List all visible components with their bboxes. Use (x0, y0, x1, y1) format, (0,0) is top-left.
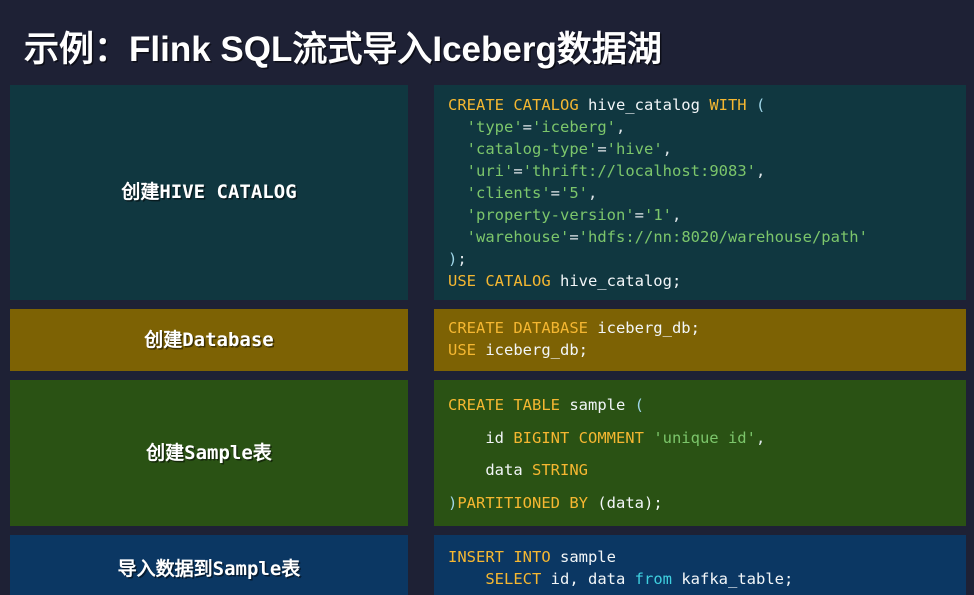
column-gap (408, 535, 434, 595)
code-token: ( (756, 96, 765, 114)
code-token: SELECT (485, 570, 550, 588)
code-token: hive_catalog; (560, 272, 681, 290)
code-line: CREATE TABLE sample ( (448, 389, 966, 422)
code-token: kafka_table; (681, 570, 793, 588)
code-token: id, data (551, 570, 635, 588)
code-line: CREATE CATALOG hive_catalog WITH ( (448, 94, 966, 116)
sql-code-block: CREATE TABLE sample ( id BIGINT COMMENT … (448, 389, 966, 519)
code-token (448, 140, 467, 158)
code-token: '1' (644, 206, 672, 224)
code-token: ; (457, 250, 466, 268)
code-token: data (448, 461, 532, 479)
code-line: data STRING (448, 454, 966, 487)
code-token: = (569, 228, 578, 246)
code-line: 'uri'='thrift://localhost:9083', (448, 160, 966, 182)
code-token: '5' (560, 184, 588, 202)
code-token: hive_catalog (588, 96, 709, 114)
code-token: 'warehouse' (467, 228, 570, 246)
code-token: CREATE CATALOG (448, 96, 588, 114)
code-token (448, 118, 467, 136)
code-token: WITH (709, 96, 756, 114)
column-gap (408, 309, 434, 371)
code-token: , (616, 118, 625, 136)
step-label-cell: 创建HIVE CATALOG (10, 85, 408, 300)
code-token: CREATE TABLE (448, 396, 569, 414)
code-token: USE CATALOG (448, 272, 560, 290)
step-row: 创建Sample表CREATE TABLE sample ( id BIGINT… (10, 380, 966, 526)
code-token: iceberg_db; (597, 319, 700, 337)
code-token (448, 162, 467, 180)
code-token: id (448, 429, 513, 447)
code-line: 'property-version'='1', (448, 204, 966, 226)
step-label-cell: 创建Sample表 (10, 380, 408, 526)
step-row: 导入数据到Sample表INSERT INTO sample SELECT id… (10, 535, 966, 595)
code-token: 'property-version' (467, 206, 635, 224)
code-token: = (523, 118, 532, 136)
code-line: USE iceberg_db; (448, 339, 966, 361)
code-token: 'clients' (467, 184, 551, 202)
sql-code-block: CREATE DATABASE iceberg_db;USE iceberg_d… (448, 317, 966, 361)
code-line: USE CATALOG hive_catalog; (448, 270, 966, 292)
code-token: , (756, 429, 765, 447)
code-token: = (513, 162, 522, 180)
code-line: 'catalog-type'='hive', (448, 138, 966, 160)
code-line: 'warehouse'='hdfs://nn:8020/warehouse/pa… (448, 226, 966, 248)
slide-root: 示例：Flink SQL流式导入Iceberg数据湖 创建HIVE CATALO… (0, 0, 974, 595)
code-token (448, 184, 467, 202)
step-code-cell: CREATE CATALOG hive_catalog WITH ( 'type… (434, 85, 966, 300)
code-token: INSERT INTO (448, 548, 560, 566)
code-line: 'clients'='5', (448, 182, 966, 204)
code-token: CREATE DATABASE (448, 319, 597, 337)
code-token: ) (448, 494, 457, 512)
step-code-cell: INSERT INTO sample SELECT id, data from … (434, 535, 966, 595)
code-token (448, 228, 467, 246)
steps-table: 创建HIVE CATALOGCREATE CATALOG hive_catalo… (10, 85, 966, 595)
code-token: = (551, 184, 560, 202)
code-token: , (588, 184, 597, 202)
step-label: 创建Sample表 (146, 442, 272, 465)
code-token: , (672, 206, 681, 224)
code-line: INSERT INTO sample (448, 546, 966, 568)
code-token: iceberg_db; (485, 341, 588, 359)
code-token: 'hdfs://nn:8020/warehouse/path' (579, 228, 868, 246)
code-token: (data); (597, 494, 662, 512)
step-code-cell: CREATE TABLE sample ( id BIGINT COMMENT … (434, 380, 966, 526)
code-token: 'hive' (607, 140, 663, 158)
code-token: STRING (532, 461, 588, 479)
code-line: CREATE DATABASE iceberg_db; (448, 317, 966, 339)
code-token: , (663, 140, 672, 158)
code-token: 'uri' (467, 162, 514, 180)
step-label: 创建Database (144, 329, 274, 352)
code-line: id BIGINT COMMENT 'unique id', (448, 422, 966, 455)
code-token: sample (569, 396, 634, 414)
sql-code-block: CREATE CATALOG hive_catalog WITH ( 'type… (448, 94, 966, 292)
column-gap (408, 85, 434, 300)
code-token (448, 570, 485, 588)
code-token: ( (635, 396, 644, 414)
code-token: from (635, 570, 682, 588)
step-label: 导入数据到Sample表 (118, 558, 301, 581)
code-token: 'iceberg' (532, 118, 616, 136)
code-line: ); (448, 248, 966, 270)
step-label-cell: 创建Database (10, 309, 408, 371)
code-token: sample (560, 548, 616, 566)
code-token: = (597, 140, 606, 158)
code-token: , (756, 162, 765, 180)
code-token: USE (448, 341, 485, 359)
column-gap (408, 380, 434, 526)
sql-code-block: INSERT INTO sample SELECT id, data from … (448, 546, 966, 590)
code-token: 'unique id' (653, 429, 756, 447)
step-label: 创建HIVE CATALOG (121, 181, 296, 204)
code-token: BIGINT COMMENT (513, 429, 653, 447)
step-label-cell: 导入数据到Sample表 (10, 535, 408, 595)
code-token: PARTITIONED BY (457, 494, 597, 512)
code-token: = (635, 206, 644, 224)
code-line: )PARTITIONED BY (data); (448, 487, 966, 520)
page-title: 示例：Flink SQL流式导入Iceberg数据湖 (24, 21, 662, 72)
code-line: SELECT id, data from kafka_table; (448, 568, 966, 590)
code-token: 'thrift://localhost:9083' (523, 162, 756, 180)
step-row: 创建HIVE CATALOGCREATE CATALOG hive_catalo… (10, 85, 966, 300)
step-code-cell: CREATE DATABASE iceberg_db;USE iceberg_d… (434, 309, 966, 371)
code-token (448, 206, 467, 224)
code-line: 'type'='iceberg', (448, 116, 966, 138)
code-token: 'catalog-type' (467, 140, 598, 158)
step-row: 创建DatabaseCREATE DATABASE iceberg_db;USE… (10, 309, 966, 371)
code-token: 'type' (467, 118, 523, 136)
code-token: ) (448, 250, 457, 268)
